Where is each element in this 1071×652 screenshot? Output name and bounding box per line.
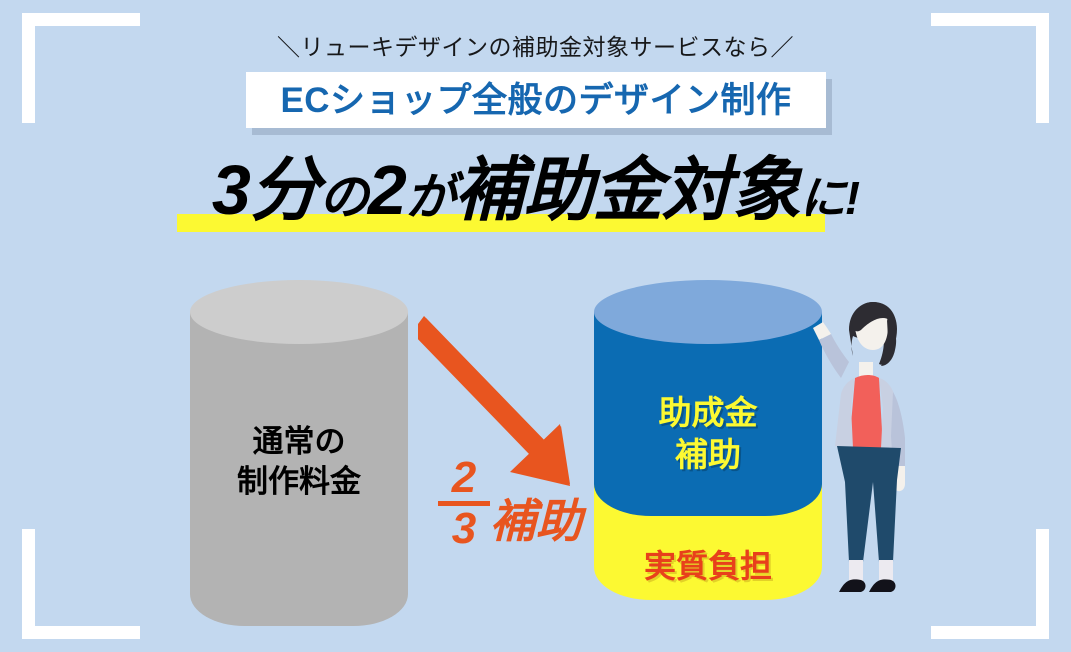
woman-left-shoe (839, 579, 866, 592)
cylinder-normal-top-ellipse (190, 280, 408, 344)
cylinder-normal-label: 通常の 制作料金 (190, 422, 408, 503)
cylinder-blue-top-ellipse (594, 280, 822, 344)
woman-right-shoe (869, 579, 896, 592)
kicker-text: ＼リューキデザインの補助金対象サービスなら／ (0, 28, 1071, 62)
cylinder-subsidized: 助成金 補助 実質負担 (594, 280, 822, 622)
service-banner-label: ECショップ全般のデザイン制作 (280, 83, 791, 118)
standing-woman-illustration (805, 296, 955, 626)
headline-part-1: 3分 (212, 151, 319, 229)
headline-part-2: の (319, 169, 368, 225)
cylinder-actual-cost-label: 実質負担 (594, 550, 822, 582)
fraction-stack: 2 3 (436, 456, 492, 551)
promo-graphic-canvas: ＼リューキデザインの補助金対象サービスなら／ ECショップ全般のデザイン制作 3… (0, 0, 1071, 652)
headline-part-6: に! (800, 172, 859, 224)
service-banner: ECショップ全般のデザイン制作 (246, 72, 826, 128)
headline-part-3: 2 (368, 151, 406, 229)
fraction-callout: 2 3 補助 (436, 456, 616, 556)
headline-text: 3分の2が補助金対象に! (0, 144, 1071, 244)
headline-part-4: が (406, 169, 455, 225)
headline-part-5: 補助金対象 (455, 151, 800, 229)
woman-raised-arm (819, 334, 849, 378)
fraction-word-label: 補助 (490, 498, 582, 544)
corner-bracket-bottom-left (22, 529, 140, 639)
woman-top (849, 375, 883, 448)
cylinder-subsidy-label: 助成金 補助 (594, 392, 822, 476)
headline-block: 3分の2が補助金対象に! (0, 144, 1071, 240)
woman-right-ankle (879, 560, 893, 582)
cylinder-normal-price: 通常の 制作料金 (190, 280, 408, 626)
woman-trousers (837, 446, 901, 562)
fraction-numerator: 2 (436, 456, 492, 500)
woman-left-ankle (849, 560, 863, 582)
fraction-denominator: 3 (436, 507, 492, 551)
